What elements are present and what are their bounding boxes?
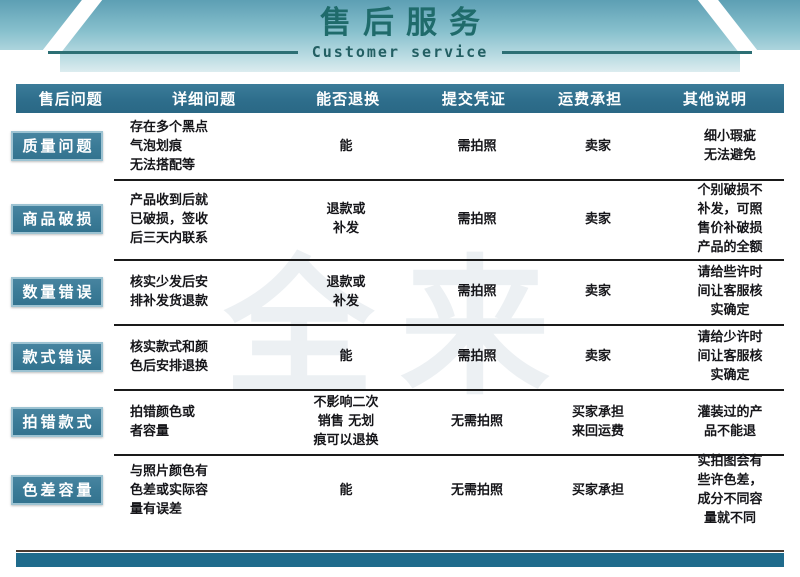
table-row: 数量错误核实少发后安排补发货退款退款或补发需拍照卖家请给些许时间让客服核实确定 [0,259,800,324]
column-header-proof: 提交凭证 [413,88,534,109]
returnable-line: 退款或 [326,200,365,219]
shipping-cell: 买家承担来回运费 [540,389,656,454]
proof-line: 无需拍照 [451,412,503,431]
after-sales-table: 售后问题 详细问题 能否退换 提交凭证 运费承担 其他说明 质量问题存在多个黑点… [0,84,800,526]
issue-badge: 质量问题 [11,131,102,161]
note-line: 个别破损不 [697,181,762,200]
issue-badge: 商品破损 [11,204,102,234]
issue-cell: 色差容量 [0,454,114,526]
note-line: 些许色差， [697,471,762,490]
subtitle-rule-right [502,51,752,54]
note-cell: 请给少许时间让客服核实确定 [656,324,800,389]
detail-line: 后三天内联系 [130,229,208,248]
detail-cell: 核实少发后安排补发货退款 [114,259,278,324]
row-separator [114,389,784,391]
shipping-cell: 卖家 [540,324,656,389]
returnable-line: 能 [339,137,352,156]
footer-rule [16,550,784,552]
page-subtitle: Customer service [298,43,503,61]
detail-line: 与照片颜色有 [130,462,208,481]
detail-cell: 拍错颜色或者容量 [114,389,278,454]
note-cell: 细小瑕疵无法避免 [656,113,800,179]
row-separator [114,454,784,456]
returnable-line: 能 [339,347,352,366]
proof-line: 无需拍照 [451,481,503,500]
shipping-line: 卖家 [585,210,611,229]
column-header-shipping: 运费承担 [534,88,645,109]
note-cell: 请给些许时间让客服核实确定 [656,259,800,324]
table-row: 质量问题存在多个黑点气泡划痕无法搭配等能需拍照卖家细小瑕疵无法避免 [0,113,800,179]
column-header-issue: 售后问题 [16,88,125,109]
table-row: 拍错款式拍错颜色或者容量不影响二次销售 无划痕可以退换无需拍照买家承担来回运费灌… [0,389,800,454]
page-title: 售后服务 [308,4,492,42]
detail-line: 已破损，签收 [130,210,208,229]
detail-cell: 产品收到后就已破损，签收后三天内联系 [114,179,278,259]
row-separator [114,324,784,326]
note-cell: 个别破损不补发，可照售价补破损产品的全额 [656,179,800,259]
issue-badge: 拍错款式 [11,407,102,437]
proof-cell: 需拍照 [414,259,540,324]
note-line: 售价补破损 [697,219,762,238]
note-cell: 灌装过的产品不能退 [656,389,800,454]
column-header-note: 其他说明 [646,88,784,109]
detail-line: 无法搭配等 [130,156,208,175]
detail-line: 拍错颜色或 [130,403,195,422]
shipping-cell: 卖家 [540,179,656,259]
page-subtitle-row: Customer service [0,43,800,61]
proof-line: 需拍照 [457,210,496,229]
returnable-cell: 能 [278,113,414,179]
returnable-cell: 退款或补发 [278,179,414,259]
note-line: 品不能退 [697,422,762,441]
detail-line: 量有误差 [130,500,208,519]
note-line: 实确定 [697,366,762,385]
detail-line: 气泡划痕 [130,137,208,156]
returnable-cell: 退款或补发 [278,259,414,324]
issue-badge: 数量错误 [11,277,102,307]
footer-bar [16,553,784,567]
returnable-cell: 能 [278,324,414,389]
sales-after-service-table-page: 全来 售后服务 Customer service 售后问题 详细问题 能否退换 … [0,0,800,577]
proof-cell: 需拍照 [414,179,540,259]
note-line: 实确定 [697,301,762,320]
note-line: 间让客服核 [697,282,762,301]
issue-cell: 商品破损 [0,179,114,259]
shipping-cell: 买家承担 [540,454,656,526]
issue-cell: 拍错款式 [0,389,114,454]
detail-cell: 存在多个黑点气泡划痕无法搭配等 [114,113,278,179]
note-line: 灌装过的产 [697,403,762,422]
proof-line: 需拍照 [457,347,496,366]
note-line: 产品的全额 [697,238,762,257]
detail-line: 核实款式和颜 [130,338,208,357]
proof-cell: 需拍照 [414,113,540,179]
detail-line: 排补发货退款 [130,292,208,311]
returnable-line: 补发 [326,292,365,311]
returnable-line: 销售 无划 [313,412,378,431]
shipping-cell: 卖家 [540,113,656,179]
issue-badge: 款式错误 [11,342,102,372]
returnable-cell: 能 [278,454,414,526]
proof-line: 需拍照 [457,282,496,301]
column-header-returnable: 能否退换 [283,88,414,109]
shipping-line: 来回运费 [572,422,624,441]
issue-cell: 款式错误 [0,324,114,389]
table-row: 商品破损产品收到后就已破损，签收后三天内联系退款或补发需拍照卖家个别破损不补发，… [0,179,800,259]
proof-line: 需拍照 [457,137,496,156]
row-separator [114,179,784,181]
column-header-detail: 详细问题 [125,88,282,109]
shipping-line: 卖家 [585,347,611,366]
note-line: 请给少许时 [697,328,762,347]
returnable-line: 退款或 [326,273,365,292]
detail-line: 存在多个黑点 [130,118,208,137]
returnable-line: 不影响二次 [313,393,378,412]
shipping-cell: 卖家 [540,259,656,324]
shipping-line: 卖家 [585,282,611,301]
detail-line: 色差或实际容 [130,481,208,500]
note-line: 量就不同 [697,509,762,528]
note-line: 间让客服核 [697,347,762,366]
shipping-line: 买家承担 [572,481,624,500]
detail-line: 核实少发后安 [130,273,208,292]
note-line: 请给些许时 [697,263,762,282]
note-line: 无法避免 [704,146,756,165]
returnable-line: 痕可以退换 [313,431,378,450]
proof-cell: 无需拍照 [414,454,540,526]
shipping-line: 买家承担 [572,403,624,422]
proof-cell: 需拍照 [414,324,540,389]
note-line: 补发，可照 [697,200,762,219]
proof-cell: 无需拍照 [414,389,540,454]
issue-cell: 质量问题 [0,113,114,179]
detail-line: 色后安排退换 [130,357,208,376]
returnable-line: 能 [339,481,352,500]
returnable-cell: 不影响二次销售 无划痕可以退换 [278,389,414,454]
detail-cell: 核实款式和颜色后安排退换 [114,324,278,389]
table-row: 款式错误核实款式和颜色后安排退换能需拍照卖家请给少许时间让客服核实确定 [0,324,800,389]
page-title-block: 售后服务 Customer service [0,0,800,72]
detail-line: 者容量 [130,422,195,441]
returnable-line: 补发 [326,219,365,238]
issue-cell: 数量错误 [0,259,114,324]
note-cell: 实拍图会有些许色差，成分不同容量就不同 [656,454,800,526]
detail-cell: 与照片颜色有色差或实际容量有误差 [114,454,278,526]
issue-badge: 色差容量 [11,475,102,505]
row-separator [114,259,784,261]
note-line: 细小瑕疵 [704,127,756,146]
shipping-line: 卖家 [585,137,611,156]
subtitle-rule-left [48,51,298,54]
note-line: 成分不同容 [697,490,762,509]
table-row: 色差容量与照片颜色有色差或实际容量有误差能无需拍照买家承担实拍图会有些许色差，成… [0,454,800,526]
table-body: 质量问题存在多个黑点气泡划痕无法搭配等能需拍照卖家细小瑕疵无法避免商品破损产品收… [0,113,800,526]
table-header-row: 售后问题 详细问题 能否退换 提交凭证 运费承担 其他说明 [16,84,784,113]
detail-line: 产品收到后就 [130,191,208,210]
